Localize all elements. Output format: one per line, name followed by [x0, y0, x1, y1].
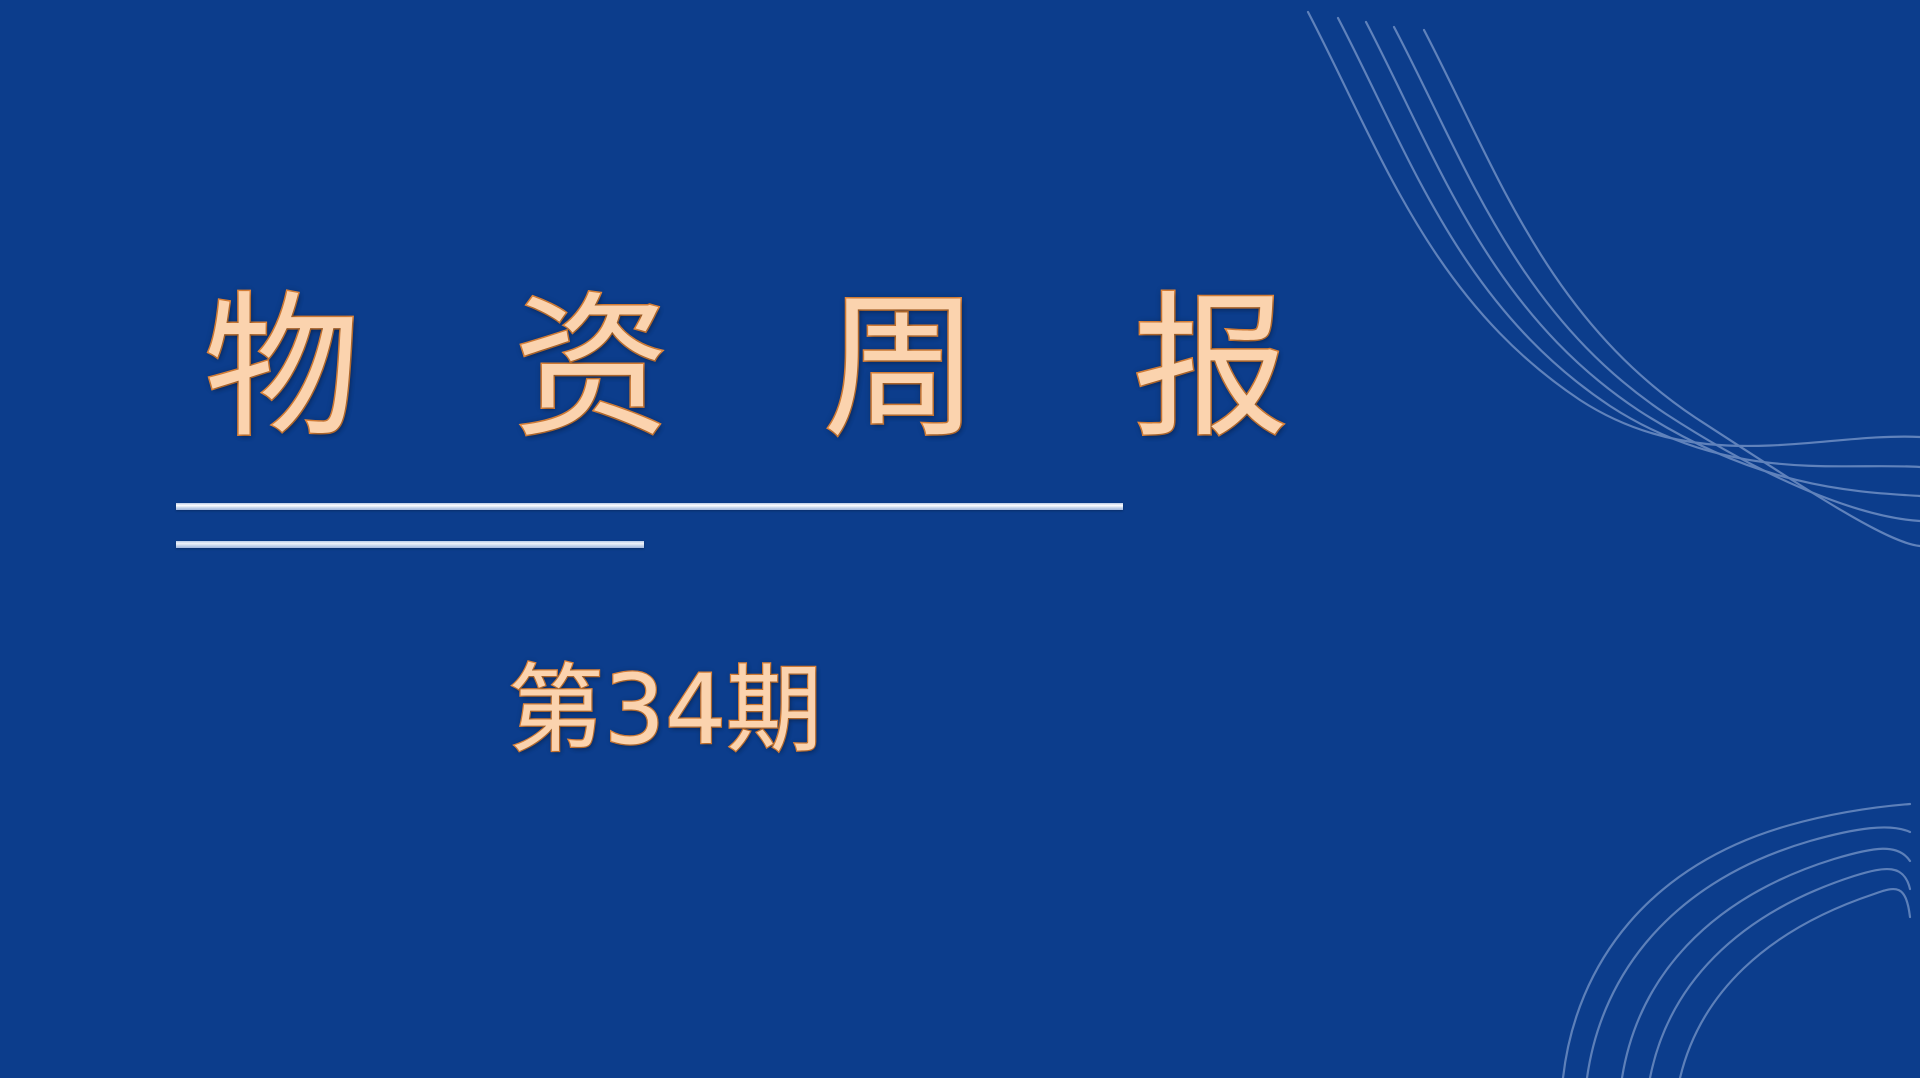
- issue-number-label: 第34期: [508, 655, 822, 765]
- swoosh-lines-top-right-icon: [1280, 0, 1920, 580]
- title-slide: 物 资 周 报 第34期: [0, 0, 1920, 1078]
- title-rule-long: [176, 503, 1123, 510]
- title-block: 物 资 周 报: [176, 276, 1176, 460]
- title-rule-short: [176, 541, 644, 548]
- page-title: 物 资 周 报: [204, 276, 1176, 460]
- arc-lines-bottom-right-icon: [1490, 728, 1920, 1078]
